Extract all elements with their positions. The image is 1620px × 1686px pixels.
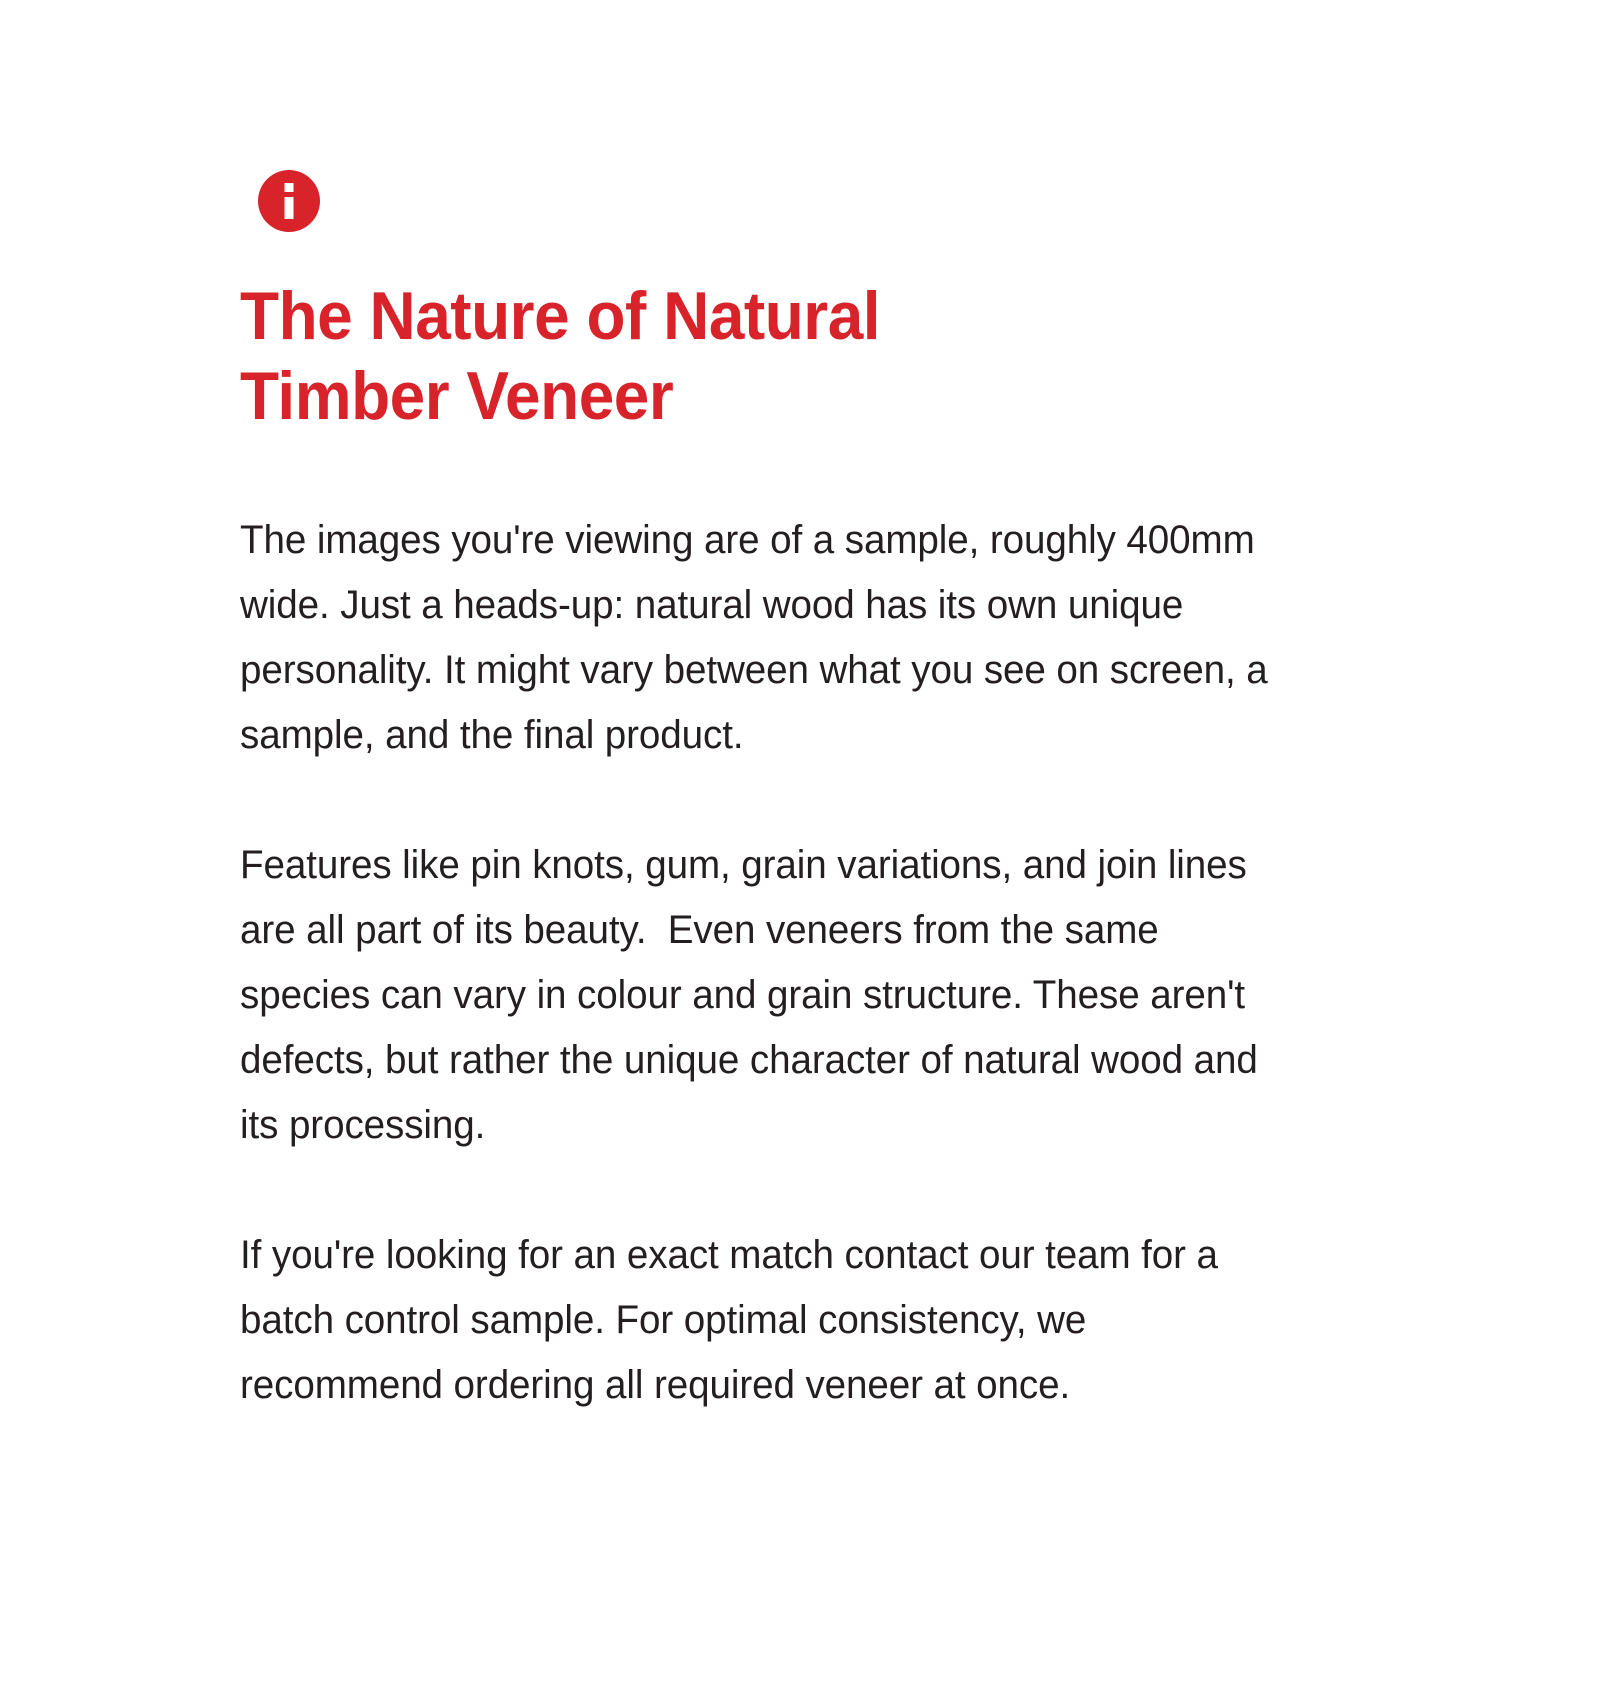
page-title: The Nature of Natural Timber Veneer [240, 276, 1236, 436]
info-icon-stem [285, 197, 294, 219]
info-icon [258, 170, 320, 232]
notice-paragraph-1: The images you're viewing are of a sampl… [240, 508, 1292, 768]
notice-paragraph-2: Features like pin knots, gum, grain vari… [240, 833, 1292, 1158]
notice-page: The Nature of Natural Timber Veneer The … [0, 0, 1620, 1686]
notice-content: The Nature of Natural Timber Veneer The … [240, 170, 1300, 1418]
notice-body: The images you're viewing are of a sampl… [240, 508, 1292, 1418]
notice-paragraph-3: If you're looking for an exact match con… [240, 1223, 1292, 1418]
info-icon-dot [285, 183, 294, 192]
